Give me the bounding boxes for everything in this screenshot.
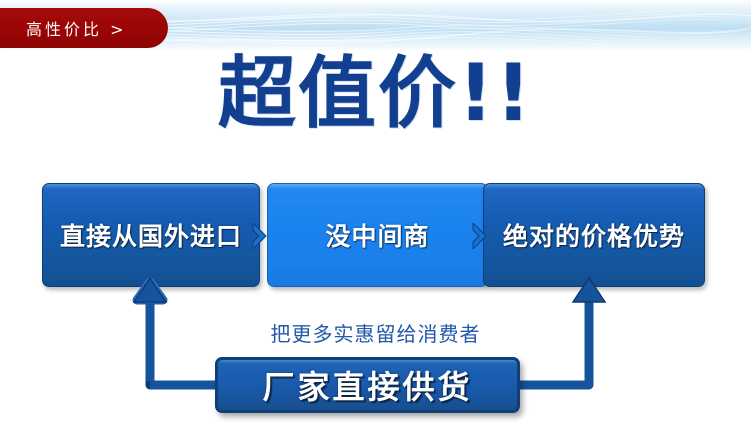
chevron-right-icon-2	[472, 223, 494, 249]
category-tag[interactable]: 高性价比 >	[0, 8, 168, 48]
flow-step-2-label: 没中间商	[325, 217, 429, 253]
flow-caption: 把更多实惠留给消费者	[0, 318, 751, 347]
source-box[interactable]: 厂家直接供货	[215, 357, 520, 413]
flow-step-3[interactable]: 绝对的价格优势	[483, 183, 705, 287]
page-title: 超值价!!	[0, 53, 751, 135]
category-tag-label: 高性价比 >	[0, 16, 127, 40]
flow-step-3-label: 绝对的价格优势	[503, 217, 685, 253]
flow-step-2[interactable]: 没中间商	[267, 183, 488, 287]
source-box-label: 厂家直接供货	[262, 362, 472, 408]
flow-steps-row: 直接从国外进口 没中间商 绝对的价格优势	[0, 183, 751, 287]
chevron-right-icon	[252, 223, 274, 249]
flow-step-1[interactable]: 直接从国外进口	[42, 183, 260, 287]
top-banner: 高性价比 >	[0, 0, 751, 52]
flow-step-1-label: 直接从国外进口	[60, 217, 242, 253]
